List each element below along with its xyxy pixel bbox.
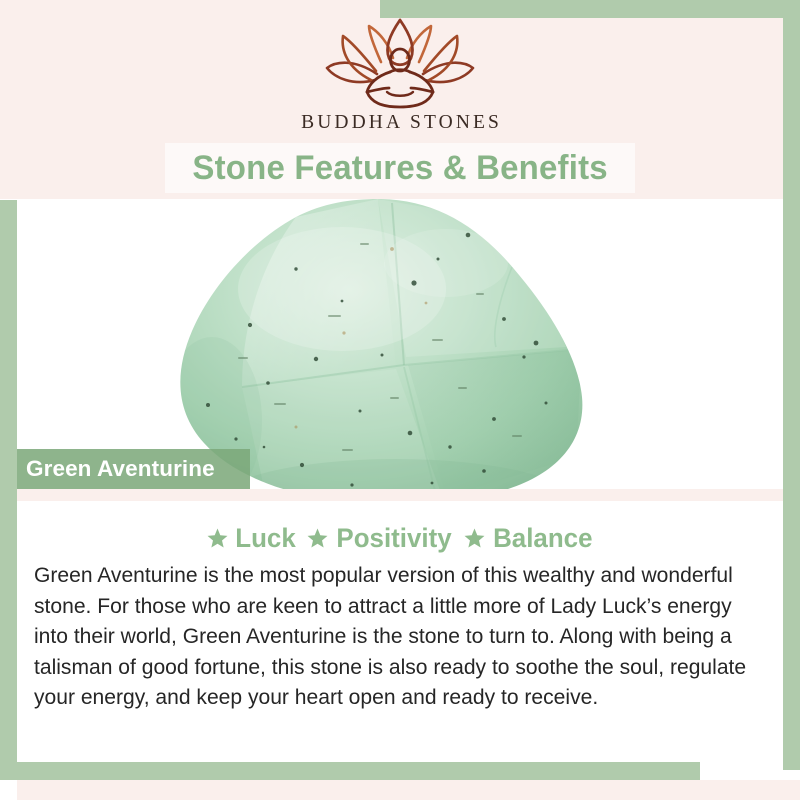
stone-photo xyxy=(17,199,783,489)
poster-root: BUDDHA STONES Stone Features & Benefits xyxy=(0,0,800,800)
keyword-label: Balance xyxy=(493,523,592,554)
keyword-list: Luck Positivity Balance xyxy=(17,519,783,557)
brand-logo-block: BUDDHA STONES xyxy=(0,18,800,148)
section-divider xyxy=(17,489,783,501)
frame-accent-top-right xyxy=(380,0,800,18)
keyword-item-luck: Luck xyxy=(206,523,297,554)
stone-name-band: Green Aventurine xyxy=(17,449,250,489)
lotus-meditation-icon xyxy=(319,18,481,110)
stone-description: Green Aventurine is the most popular ver… xyxy=(34,560,763,713)
keyword-item-positivity: Positivity xyxy=(306,523,454,554)
star-icon xyxy=(463,527,486,550)
star-icon xyxy=(306,527,329,550)
page-title: Stone Features & Benefits xyxy=(192,149,607,188)
frame-accent-bottom xyxy=(0,762,700,780)
keyword-label: Luck xyxy=(235,523,296,554)
brand-wordmark: BUDDHA STONES xyxy=(298,112,502,134)
stone-name-label: Green Aventurine xyxy=(17,456,215,482)
frame-accent-left xyxy=(0,200,17,780)
title-banner: Stone Features & Benefits xyxy=(165,143,635,193)
star-icon xyxy=(206,527,229,550)
footer-background xyxy=(17,780,800,800)
keyword-item-balance: Balance xyxy=(463,523,595,554)
green-aventurine-stone-image xyxy=(146,199,616,489)
keyword-label: Positivity xyxy=(336,523,451,554)
